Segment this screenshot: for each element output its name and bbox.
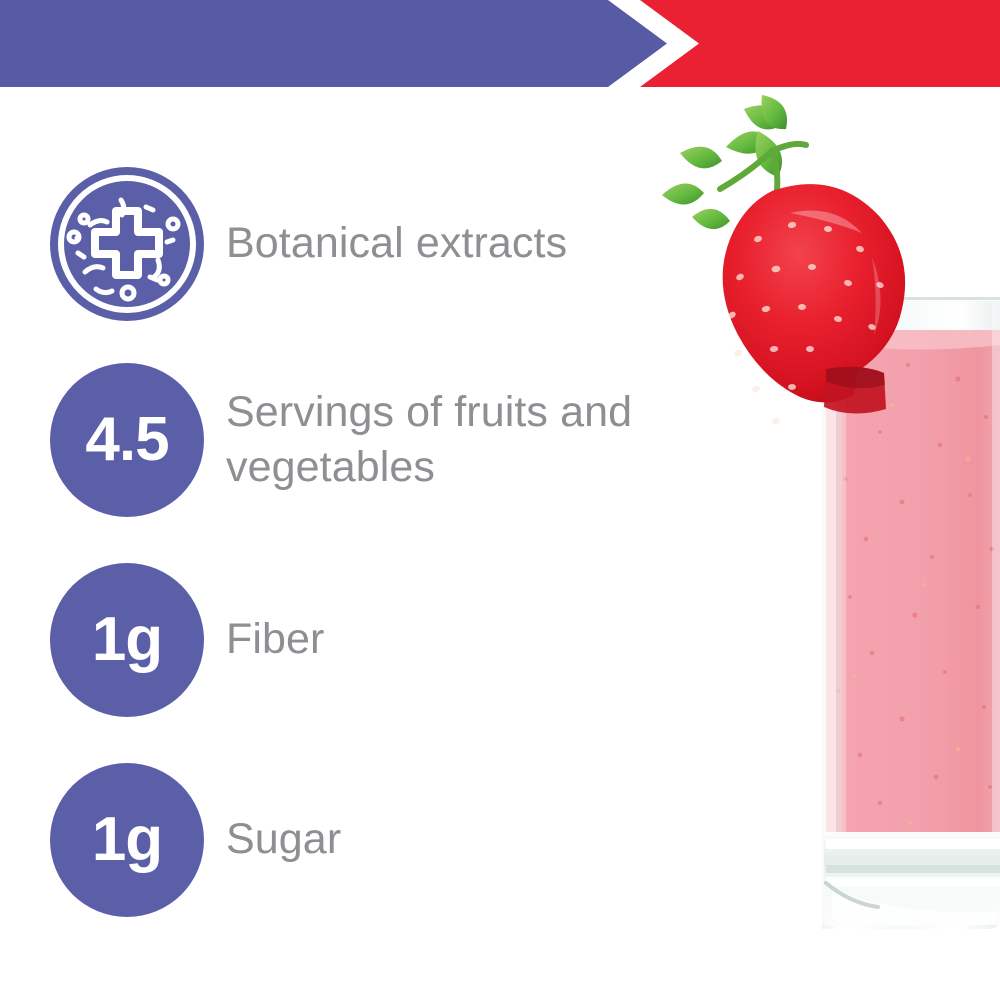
header-band-red xyxy=(640,0,1000,87)
benefit-label: Fiber xyxy=(226,612,324,667)
badge-servings: 4.5 xyxy=(50,363,204,517)
benefit-row: 1g Fiber xyxy=(50,563,324,717)
benefit-label: Servings of fruits and vegetables xyxy=(226,385,632,495)
benefit-label: Sugar xyxy=(226,812,341,867)
product-photo xyxy=(640,87,1000,1000)
benefit-row: 1g Sugar xyxy=(50,763,341,917)
badge-botanical-extracts xyxy=(50,167,204,321)
infographic-canvas: Botanical extracts 4.5 Servings of fruit… xyxy=(0,0,1000,1000)
benefit-row: Botanical extracts xyxy=(50,167,567,321)
badge-value: 4.5 xyxy=(85,409,168,471)
badge-fiber: 1g xyxy=(50,563,204,717)
strawberry-garnish xyxy=(662,95,905,424)
glass-base xyxy=(824,832,1000,925)
botanical-cross-icon xyxy=(50,167,204,321)
header-band xyxy=(0,0,1000,87)
benefit-row: 4.5 Servings of fruits and vegetables xyxy=(50,363,632,517)
badge-value: 1g xyxy=(92,609,162,671)
badge-value: 1g xyxy=(92,809,162,871)
benefit-label: Botanical extracts xyxy=(226,216,567,271)
badge-sugar: 1g xyxy=(50,763,204,917)
benefits-list: Botanical extracts 4.5 Servings of fruit… xyxy=(0,87,700,1000)
header-band-purple xyxy=(0,0,667,87)
strawberry-smoothie-illustration xyxy=(640,87,1000,1000)
